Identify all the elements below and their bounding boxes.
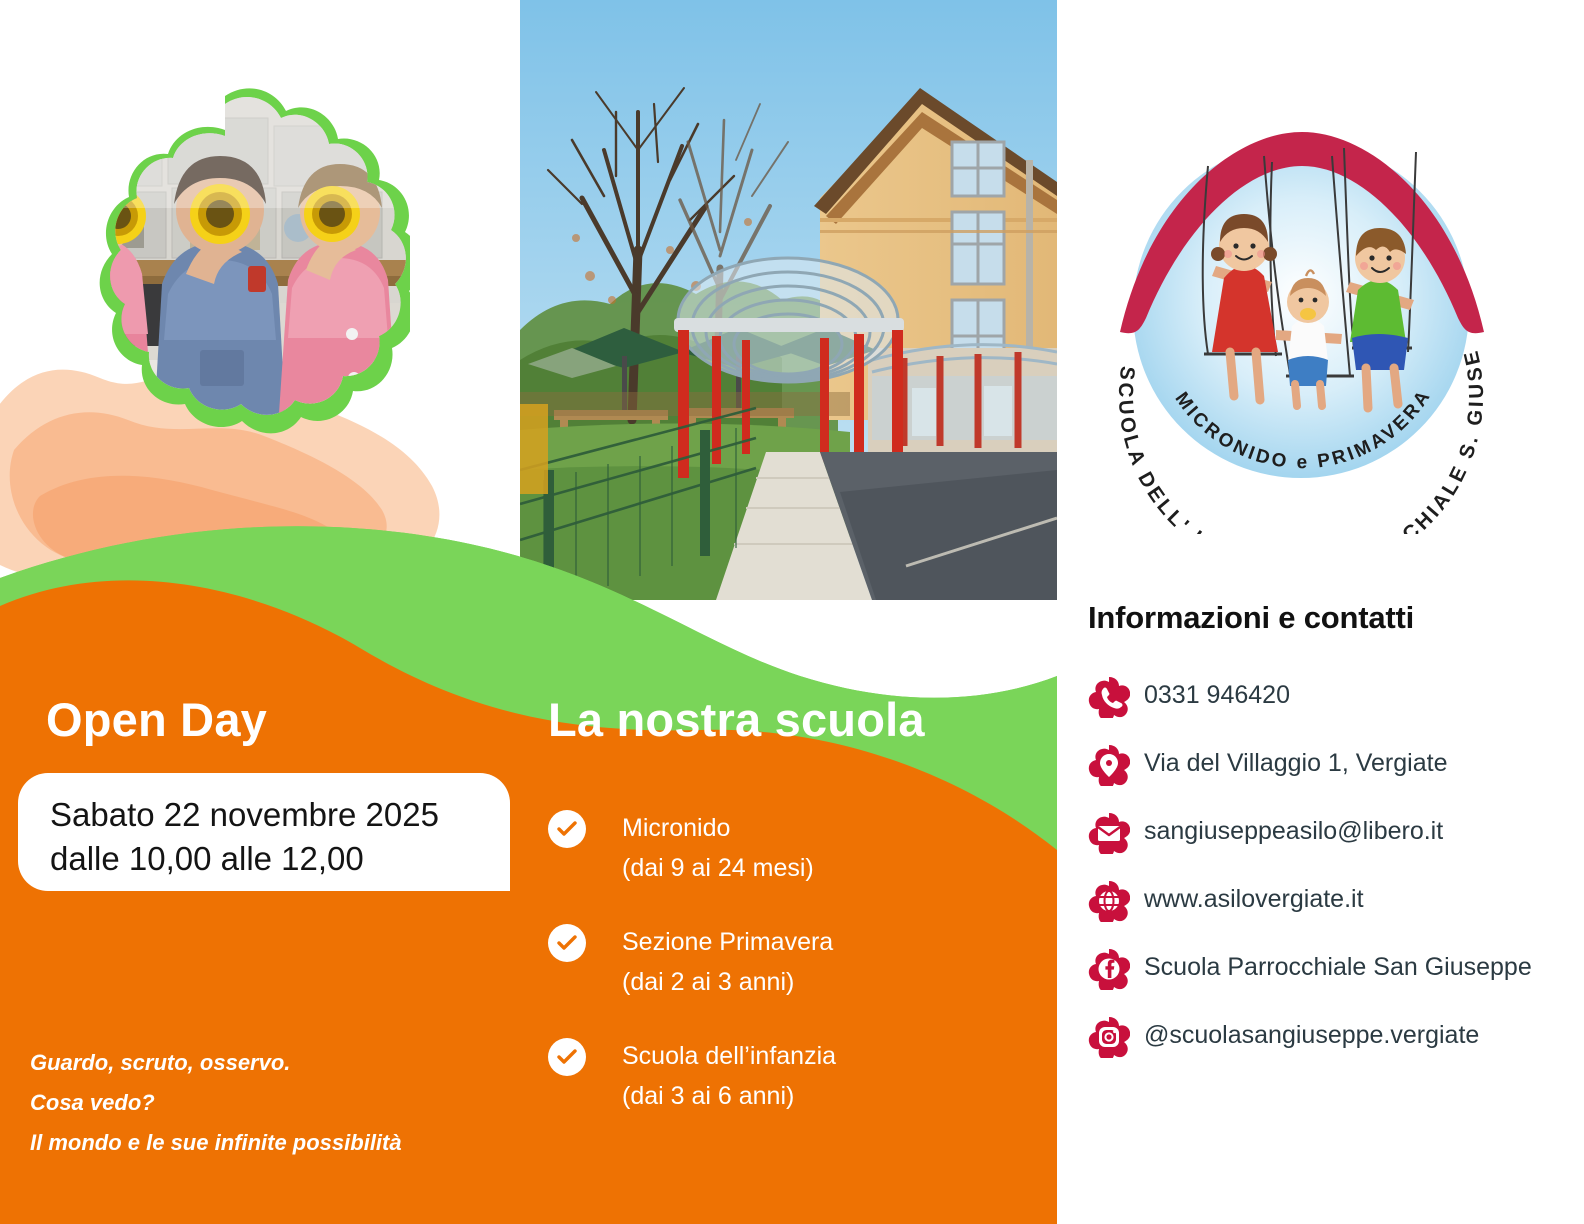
email-icon — [1088, 812, 1130, 854]
school-logo: SCUOLA DELL' INFANZIA PARROCCHIALE S. GI… — [1096, 104, 1506, 534]
check-icon — [548, 924, 586, 962]
page-title-openday: Open Day — [46, 692, 267, 747]
tagline-text: Guardo, scruto, osservo. Cosa vedo? Il m… — [30, 1043, 402, 1163]
photo-children-telescopes — [40, 88, 410, 458]
list-item: Micronido (dai 9 ai 24 mesi) — [548, 808, 836, 888]
contact-value-phone: 0331 946420 — [1144, 681, 1290, 710]
contact-value-facebook: Scuola Parrocchiale San Giuseppe — [1144, 953, 1532, 982]
contact-row-website[interactable]: www.asilovergiate.it — [1088, 880, 1584, 932]
list-item-label: Scuola dell’infanzia (dai 3 ai 6 anni) — [622, 1042, 836, 1110]
facebook-icon — [1088, 948, 1130, 990]
location-icon — [1088, 744, 1130, 786]
contacts-heading: Informazioni e contatti — [1088, 600, 1584, 636]
contacts-panel: Informazioni e contatti 0331 946420 Via … — [1088, 600, 1584, 1084]
list-item-label: Sezione Primavera (dai 2 ai 3 anni) — [622, 928, 833, 996]
contact-row-instagram[interactable]: @scuolasangiuseppe.vergiate — [1088, 1016, 1584, 1068]
contact-row-phone[interactable]: 0331 946420 — [1088, 676, 1584, 728]
school-programs-list: Micronido (dai 9 ai 24 mesi) Sezione Pri… — [548, 808, 836, 1150]
section-title-school: La nostra scuola — [548, 692, 925, 747]
contact-row-email[interactable]: sangiuseppeasilo@libero.it — [1088, 812, 1584, 864]
list-item: Sezione Primavera (dai 2 ai 3 anni) — [548, 922, 836, 1002]
contact-value-instagram: @scuolasangiuseppe.vergiate — [1144, 1021, 1479, 1050]
event-date-text: Sabato 22 novembre 2025 dalle 10,00 alle… — [50, 793, 439, 881]
contact-value-email: sangiuseppeasilo@libero.it — [1144, 817, 1443, 846]
list-item-label: Micronido (dai 9 ai 24 mesi) — [622, 814, 814, 882]
contact-row-address[interactable]: Via del Villaggio 1, Vergiate — [1088, 744, 1584, 796]
event-date-badge: Sabato 22 novembre 2025 dalle 10,00 alle… — [18, 773, 510, 891]
contact-value-website: www.asilovergiate.it — [1144, 885, 1364, 914]
contact-value-address: Via del Villaggio 1, Vergiate — [1144, 749, 1447, 778]
photo-school-exterior — [520, 0, 1057, 600]
globe-icon — [1088, 880, 1130, 922]
check-icon — [548, 810, 586, 848]
list-item: Scuola dell’infanzia (dai 3 ai 6 anni) — [548, 1036, 836, 1116]
phone-icon — [1088, 676, 1130, 718]
instagram-icon — [1088, 1016, 1130, 1058]
contact-row-facebook[interactable]: Scuola Parrocchiale San Giuseppe — [1088, 948, 1584, 1000]
orange-info-panel: Open Day Sabato 22 novembre 2025 dalle 1… — [0, 520, 1057, 1224]
poster-canvas: Open Day Sabato 22 novembre 2025 dalle 1… — [0, 0, 1584, 1224]
check-icon — [548, 1038, 586, 1076]
